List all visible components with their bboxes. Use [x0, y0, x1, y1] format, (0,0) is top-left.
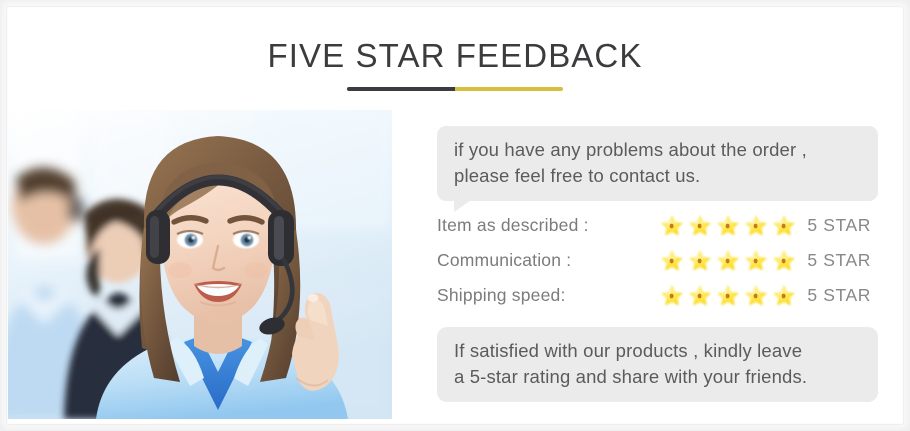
title-block: FIVE STAR FEEDBACK [0, 34, 910, 91]
rating-row: Communication : [437, 243, 878, 278]
star-icon [687, 248, 713, 274]
leave-rating-line-1: If satisfied with our products , kindly … [454, 338, 862, 364]
star-icon [715, 283, 741, 309]
page-title: FIVE STAR FEEDBACK [0, 34, 910, 78]
rating-label-shipping-speed: Shipping speed: [437, 285, 659, 306]
leave-rating-line-2: a 5-star rating and share with your frie… [454, 364, 862, 390]
star-icon [743, 213, 769, 239]
star-icon [743, 248, 769, 274]
star-icon [771, 283, 797, 309]
title-underline-dark-segment [347, 87, 455, 91]
star-icon [659, 283, 685, 309]
rating-label-communication: Communication : [437, 250, 659, 271]
contact-us-line-1: if you have any problems about the order… [454, 137, 862, 163]
rating-row: Item as described : [437, 208, 878, 243]
rating-label-item-as-described: Item as described : [437, 215, 659, 236]
support-agent-photo [8, 110, 392, 419]
star-icon [771, 213, 797, 239]
star-icon [771, 248, 797, 274]
star-icon [743, 283, 769, 309]
star-icon [687, 213, 713, 239]
feedback-details: if you have any problems about the order… [437, 110, 878, 419]
rating-value-item-as-described: 5 STAR [799, 215, 878, 236]
rating-row: Shipping speed: [437, 278, 878, 313]
star-rating-item-as-described [659, 213, 799, 239]
star-icon [715, 213, 741, 239]
star-rating-communication [659, 248, 799, 274]
contact-us-bubble: if you have any problems about the order… [437, 126, 878, 201]
support-agent-illustration [8, 110, 392, 419]
ratings-list: Item as described : [437, 208, 878, 313]
star-icon [659, 248, 685, 274]
feedback-banner: FIVE STAR FEEDBACK [0, 0, 910, 431]
title-underline [347, 87, 563, 91]
rating-value-shipping-speed: 5 STAR [799, 285, 878, 306]
star-icon [715, 248, 741, 274]
contact-us-line-2: please feel free to contact us. [454, 163, 862, 189]
leave-rating-bubble: If satisfied with our products , kindly … [437, 327, 878, 402]
star-rating-shipping-speed [659, 283, 799, 309]
star-icon [687, 283, 713, 309]
title-underline-gold-segment [455, 87, 563, 91]
rating-value-communication: 5 STAR [799, 250, 878, 271]
star-icon [659, 213, 685, 239]
